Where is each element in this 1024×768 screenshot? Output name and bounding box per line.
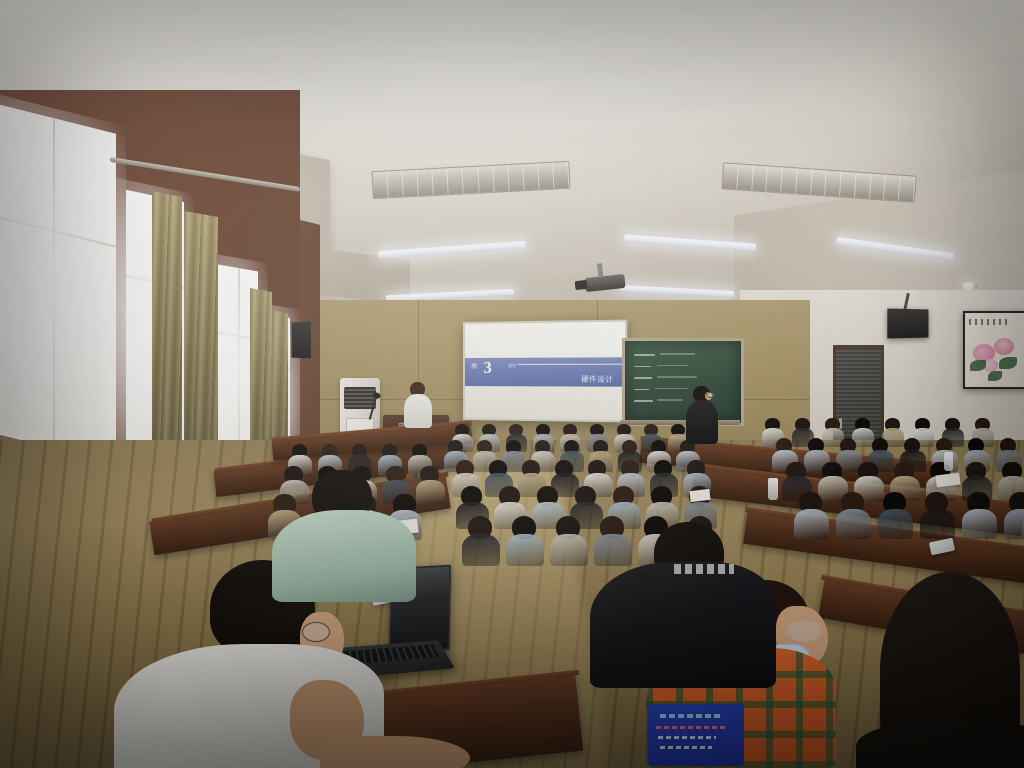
framed-painting bbox=[963, 311, 1024, 389]
vent-slat bbox=[523, 163, 539, 190]
board-person-torso bbox=[686, 400, 718, 444]
audience-torso bbox=[1004, 509, 1024, 539]
chalk-line bbox=[634, 389, 649, 391]
student-torso bbox=[272, 510, 416, 602]
blackboard bbox=[622, 338, 744, 426]
painting-leaf bbox=[970, 360, 986, 371]
audience-torso bbox=[416, 480, 445, 504]
vent-slat bbox=[493, 165, 509, 192]
vent-slat bbox=[372, 171, 388, 198]
projection-screen-surface: 第 3 部分 硬件设计 bbox=[465, 322, 625, 421]
peony-bloom bbox=[994, 338, 1014, 355]
vent-slat bbox=[388, 171, 404, 198]
vent-slat bbox=[418, 169, 434, 196]
ac-grille bbox=[344, 387, 376, 409]
window-mullion bbox=[53, 118, 55, 448]
slide-title: 硬件设计 bbox=[581, 374, 613, 384]
vent-slat bbox=[478, 166, 494, 193]
water-bottle bbox=[944, 452, 953, 471]
ceiling-downlight bbox=[960, 282, 978, 290]
chalk-line bbox=[634, 377, 651, 379]
slide-section-suffix: 部分 bbox=[508, 362, 516, 368]
chalk-line bbox=[655, 388, 687, 390]
eyeglasses-icon bbox=[786, 620, 822, 642]
slide-rule-line bbox=[518, 364, 622, 365]
audience-torso bbox=[920, 509, 955, 539]
vent-slat bbox=[538, 163, 554, 190]
painting-canvas bbox=[965, 313, 1024, 387]
audience-torso bbox=[594, 534, 632, 566]
chalk-line bbox=[657, 376, 696, 378]
jacket-print-text bbox=[656, 726, 726, 729]
painting-leaf bbox=[999, 357, 1017, 369]
water-bottle bbox=[768, 478, 778, 500]
jacket-print-text bbox=[660, 714, 722, 718]
audience-torso bbox=[462, 534, 500, 566]
vent-slat bbox=[463, 167, 479, 194]
eyeglasses-icon bbox=[302, 622, 330, 642]
painting-leaf bbox=[988, 371, 1002, 381]
vent-slat bbox=[433, 168, 449, 195]
vent-slat bbox=[403, 170, 419, 197]
audience-torso bbox=[836, 509, 871, 539]
window-mullion bbox=[238, 268, 240, 464]
audience-torso bbox=[962, 509, 997, 539]
vent-slat bbox=[899, 176, 915, 202]
chalk-line bbox=[634, 354, 655, 356]
window-pane bbox=[0, 102, 116, 463]
jacket-print-text bbox=[660, 746, 712, 749]
chalk-line bbox=[657, 399, 683, 401]
wall-speaker-left-icon bbox=[291, 322, 310, 359]
vent-slat bbox=[508, 164, 524, 191]
audience-torso bbox=[794, 509, 829, 539]
painting-calligraphy bbox=[969, 319, 1011, 325]
vent-slat bbox=[448, 167, 464, 194]
chalk-line bbox=[634, 366, 650, 368]
chalk-line bbox=[634, 400, 653, 402]
audience-torso bbox=[506, 534, 544, 566]
student-torso bbox=[856, 722, 1024, 768]
hoodie-print-text bbox=[674, 564, 734, 574]
vent-slat bbox=[553, 162, 569, 189]
chalk-line bbox=[660, 353, 695, 355]
slide-section-number: 3 bbox=[483, 359, 491, 376]
chalk-line bbox=[657, 365, 687, 367]
projection-screen: 第 3 部分 硬件设计 bbox=[463, 320, 627, 423]
hoodie-torso bbox=[590, 562, 776, 688]
slide-section-badge: 第 bbox=[471, 363, 477, 369]
audience-torso bbox=[878, 509, 913, 539]
eyeglasses-icon bbox=[706, 392, 715, 398]
presenter-torso bbox=[404, 394, 432, 428]
lecture-hall-photo: 第 3 部分 硬件设计 bbox=[0, 0, 1024, 768]
jacket-print-text bbox=[658, 736, 716, 739]
wall-speaker-right-icon bbox=[887, 309, 928, 339]
audience-torso bbox=[550, 534, 588, 566]
